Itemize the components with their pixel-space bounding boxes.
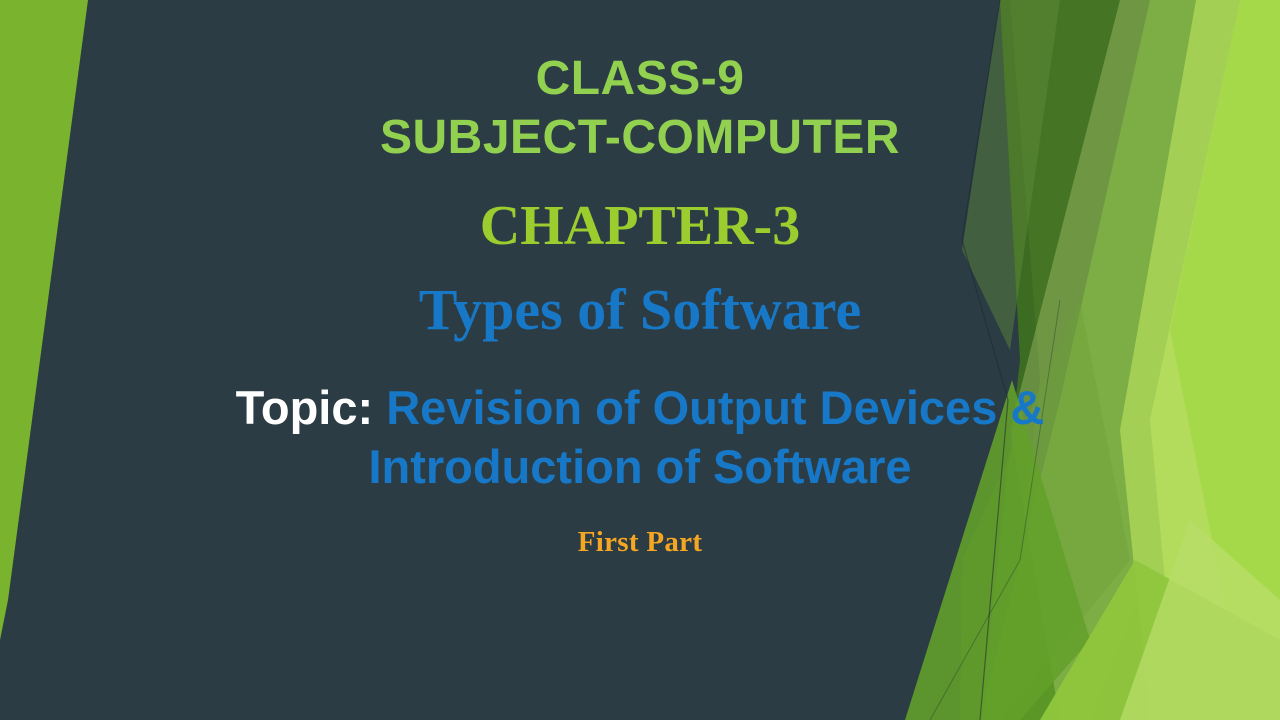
subject-line: SUBJECT-COMPUTER [380,109,900,168]
part-note: First Part [578,526,703,559]
topic-value: Revision of Output Devices & Introductio… [368,381,1044,493]
chapter-line: CHAPTER-3 [480,191,800,261]
chapter-title: Types of Software [419,275,861,346]
slide-content: CLASS-9 SUBJECT-COMPUTER CHAPTER-3 Types… [0,0,1280,720]
topic-label: Topic: [236,381,374,434]
topic-block: Topic: Revision of Output Devices & Intr… [140,378,1140,496]
presentation-slide: CLASS-9 SUBJECT-COMPUTER CHAPTER-3 Types… [0,0,1280,720]
class-line: CLASS-9 [536,50,745,109]
